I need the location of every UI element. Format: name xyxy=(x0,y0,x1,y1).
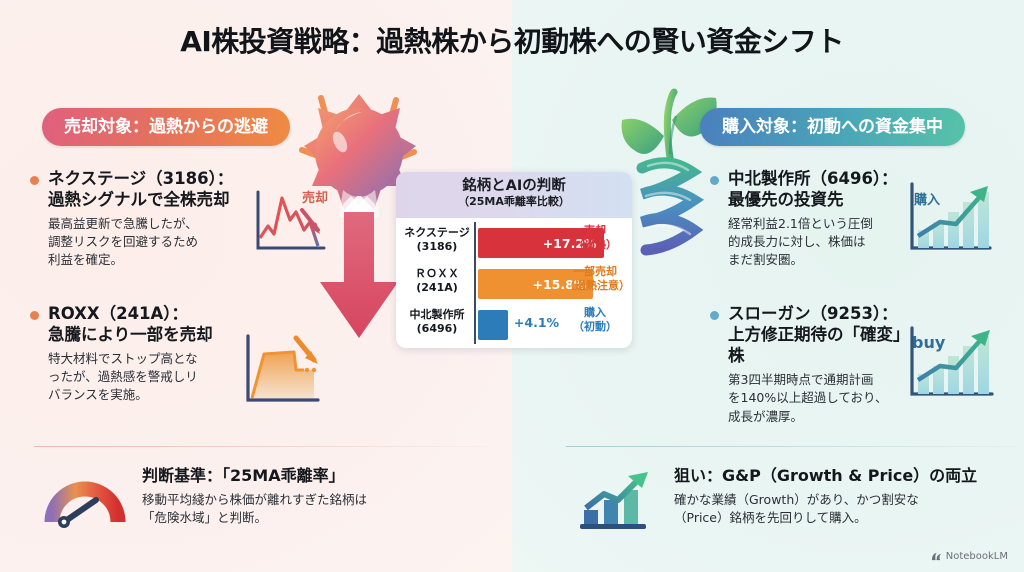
chart-bar-row: ネクステージ (3186) +17.2% 売却 （過熱） xyxy=(400,224,628,264)
infographic-page: AI株投資戦略：過熱株から初動株への賢い資金シフト 売却対象：過熱からの逃避 購… xyxy=(0,0,1024,572)
panel-header: 銘柄とAIの判断 （25MA乖離率比較） xyxy=(396,172,632,218)
icon-label-buy: buy xyxy=(912,333,946,352)
panel-subtitle: （25MA乖離率比較） xyxy=(396,195,632,209)
divider xyxy=(566,446,1018,447)
bar-category-label: ＲＯＸＸ (241A) xyxy=(400,267,474,295)
notebooklm-icon xyxy=(931,551,942,562)
list-item-slogan: スローガン（9253）： 上方修正期待の「確変」株 第3四半期時点で通期計画 を… xyxy=(710,303,920,426)
summary-heading: 判断基準：「25MA乖離率」 xyxy=(142,466,472,487)
summary-body: 確かな業績（Growth）があり、かつ割安な （Price）銘柄を先回りして購入… xyxy=(674,491,1004,527)
summary-criteria: 判断基準：「25MA乖離率」 移動平均綫から株価が離れすぎた銘柄は 「危険水域」… xyxy=(34,446,486,556)
bar-chart-growth-arrow-icon xyxy=(576,468,658,530)
bullet-icon xyxy=(30,176,39,185)
bar-value-label: +4.1% xyxy=(508,315,559,330)
bar-annotation: 売却 （過熱） xyxy=(564,224,626,253)
panel-body: ネクステージ (3186) +17.2% 売却 （過熱） ＲＯＸＸ (241A)… xyxy=(396,218,632,348)
item-body: 特大材料でストップ高とな ったが、過熱感を警戒しリ バランスを実施。 xyxy=(48,350,240,404)
page-title: AI株投資戦略：過熱株から初動株への賢い資金シフト xyxy=(0,20,1024,60)
summary-heading: 狙い：G&P（Growth & Price）の両立 xyxy=(674,466,1004,487)
chart-bar-row: 中北製作所 (6496) +4.1% 購入 （初動） xyxy=(400,306,628,346)
summary-goal: 狙い：G&P（Growth & Price）の両立 確かな業績（Growth）が… xyxy=(566,446,1018,556)
bar-category-label: ネクステージ (3186) xyxy=(400,226,474,254)
comparison-chart-panel: 銘柄とAIの判断 （25MA乖離率比較） ネクステージ (3186) +17.2… xyxy=(396,172,632,348)
gauge-meter-icon xyxy=(44,468,126,530)
bullet-icon xyxy=(710,311,719,320)
watermark: NotebookLM xyxy=(931,551,1008,562)
item-heading: スローガン（9253）： 上方修正期待の「確変」株 xyxy=(728,303,920,366)
bullet-icon xyxy=(30,311,39,320)
item-body: 経常利益2.1倍という圧倒 的成長力に対し、株価は まだ割安圏。 xyxy=(728,215,905,269)
watermark-label: NotebookLM xyxy=(946,551,1008,562)
chart-bar-row: ＲＯＸＸ (241A) +15.8% 一部売却 （過熱注意） xyxy=(400,265,628,305)
summary-text: 判断基準：「25MA乖離率」 移動平均綫から株価が離れすぎた銘柄は 「危険水域」… xyxy=(142,466,472,527)
item-heading: 中北製作所（6496）： 最優先の投資先 xyxy=(728,168,905,210)
chart-bar xyxy=(478,310,508,340)
section-badge-sell: 売却対象：過熱からの逃避 xyxy=(42,108,290,146)
list-item-nakakita: 中北製作所（6496）： 最優先の投資先 経常利益2.1倍という圧倒 的成長力に… xyxy=(710,168,905,270)
icon-label-buy: 購入 xyxy=(913,192,940,208)
section-badge-buy: 購入対象：初動への資金集中 xyxy=(700,108,965,146)
item-heading: ネクステージ（3186）： 過熱シグナルで全株売却 xyxy=(48,168,240,210)
divider xyxy=(34,446,486,447)
item-body: 最高益更新で急騰したが、 調整リスクを回避するため 利益を確定。 xyxy=(48,215,240,269)
list-item-roxx: ROXX（241A）： 急騰により一部を売却 特大材料でストップ高とな ったが、… xyxy=(30,303,240,405)
rising-bar-chart-up-arrow-icon: buy xyxy=(898,320,998,410)
summary-body: 移動平均綫から株価が離れすぎた銘柄は 「危険水域」と判断。 xyxy=(142,491,472,527)
bar-annotation: 購入 （初動） xyxy=(564,306,626,335)
bar-annotation: 一部売却 （過熱注意） xyxy=(564,265,626,294)
item-heading: ROXX（241A）： 急騰により一部を売却 xyxy=(48,303,240,345)
list-item-nexstage: ネクステージ（3186）： 過熱シグナルで全株売却 最高益更新で急騰したが、 調… xyxy=(30,168,240,270)
item-body: 第3四半期時点で通期計画 を140%以上超過しており、 成長が濃厚。 xyxy=(728,371,920,425)
bar-category-label: 中北製作所 (6496) xyxy=(400,308,474,336)
rising-bar-chart-up-arrow-icon: 購入 xyxy=(900,178,996,260)
summary-text: 狙い：G&P（Growth & Price）の両立 確かな業績（Growth）が… xyxy=(674,466,1004,527)
panel-title: 銘柄とAIの判断 xyxy=(396,177,632,195)
